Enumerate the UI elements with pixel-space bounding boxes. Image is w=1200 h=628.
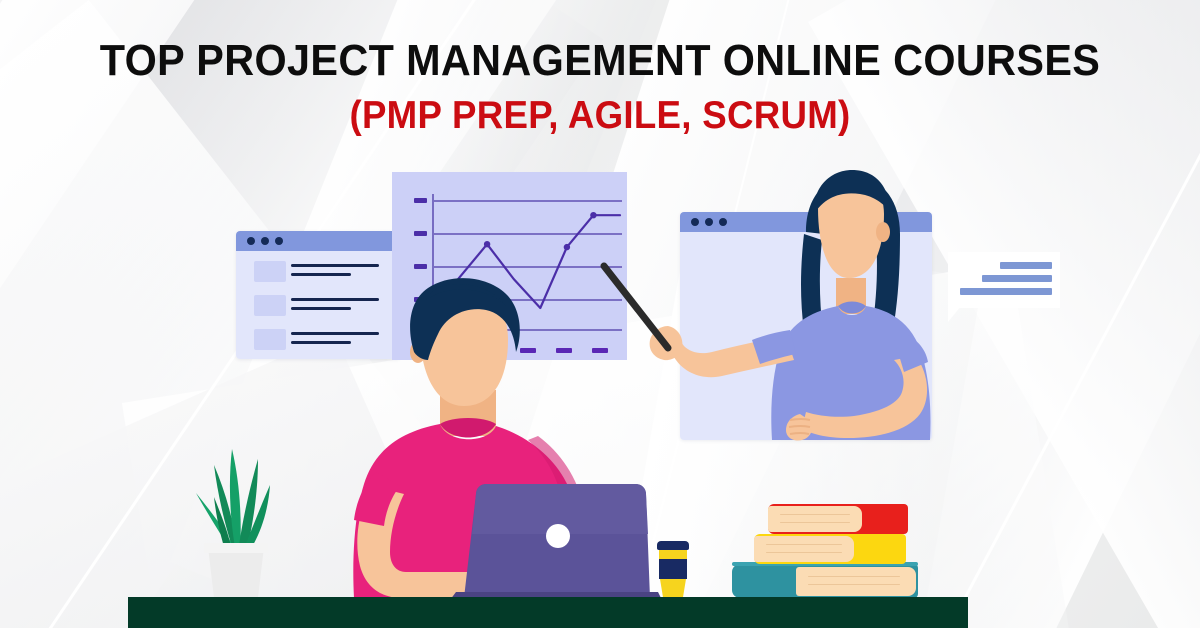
poster-canvas: TOP PROJECT MANAGEMENT ONLINE COURSES (P… (0, 0, 1200, 628)
laptop-logo-icon (546, 524, 570, 548)
desk-surface (128, 597, 968, 628)
poster-heading-block: TOP PROJECT MANAGEMENT ONLINE COURSES (P… (0, 38, 1200, 136)
page-title: TOP PROJECT MANAGEMENT ONLINE COURSES (36, 38, 1164, 85)
page-subtitle: (PMP PREP, AGILE, SCRUM) (36, 95, 1164, 136)
